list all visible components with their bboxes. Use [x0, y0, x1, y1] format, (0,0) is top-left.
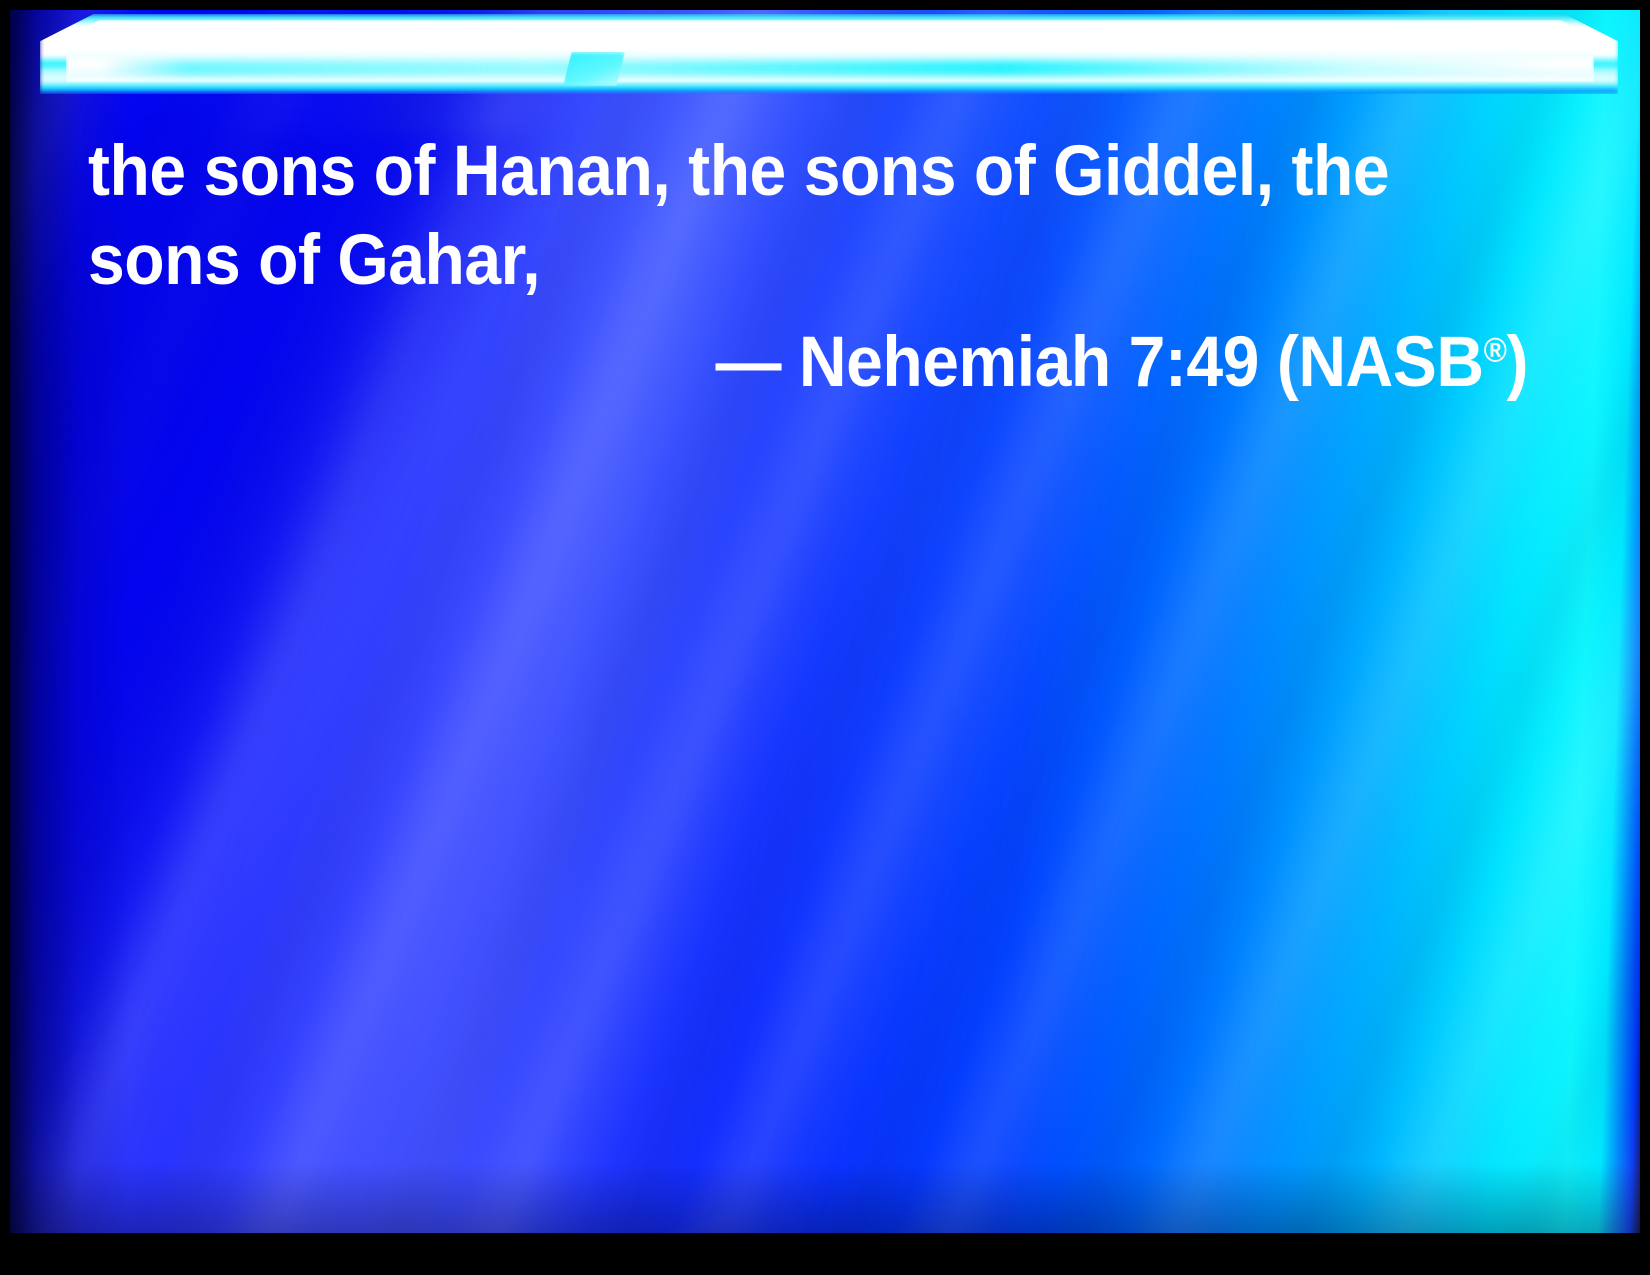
verse-block: the sons of Hanan, the sons of Giddel, t… [88, 128, 1528, 402]
slide-stage: the sons of Hanan, the sons of Giddel, t… [10, 10, 1640, 1233]
background-bottom-shade [10, 1163, 1640, 1233]
verse-reference: — Nehemiah 7:49 (NASB®) [189, 324, 1528, 402]
scripture-slide: the sons of Hanan, the sons of Giddel, t… [0, 0, 1650, 1275]
verse-reference-suffix: ) [1506, 323, 1528, 402]
verse-reference-prefix: — Nehemiah 7:49 (NASB [715, 323, 1483, 402]
registered-trademark-icon: ® [1484, 331, 1507, 369]
verse-body-text: the sons of Hanan, the sons of Giddel, t… [88, 128, 1427, 306]
